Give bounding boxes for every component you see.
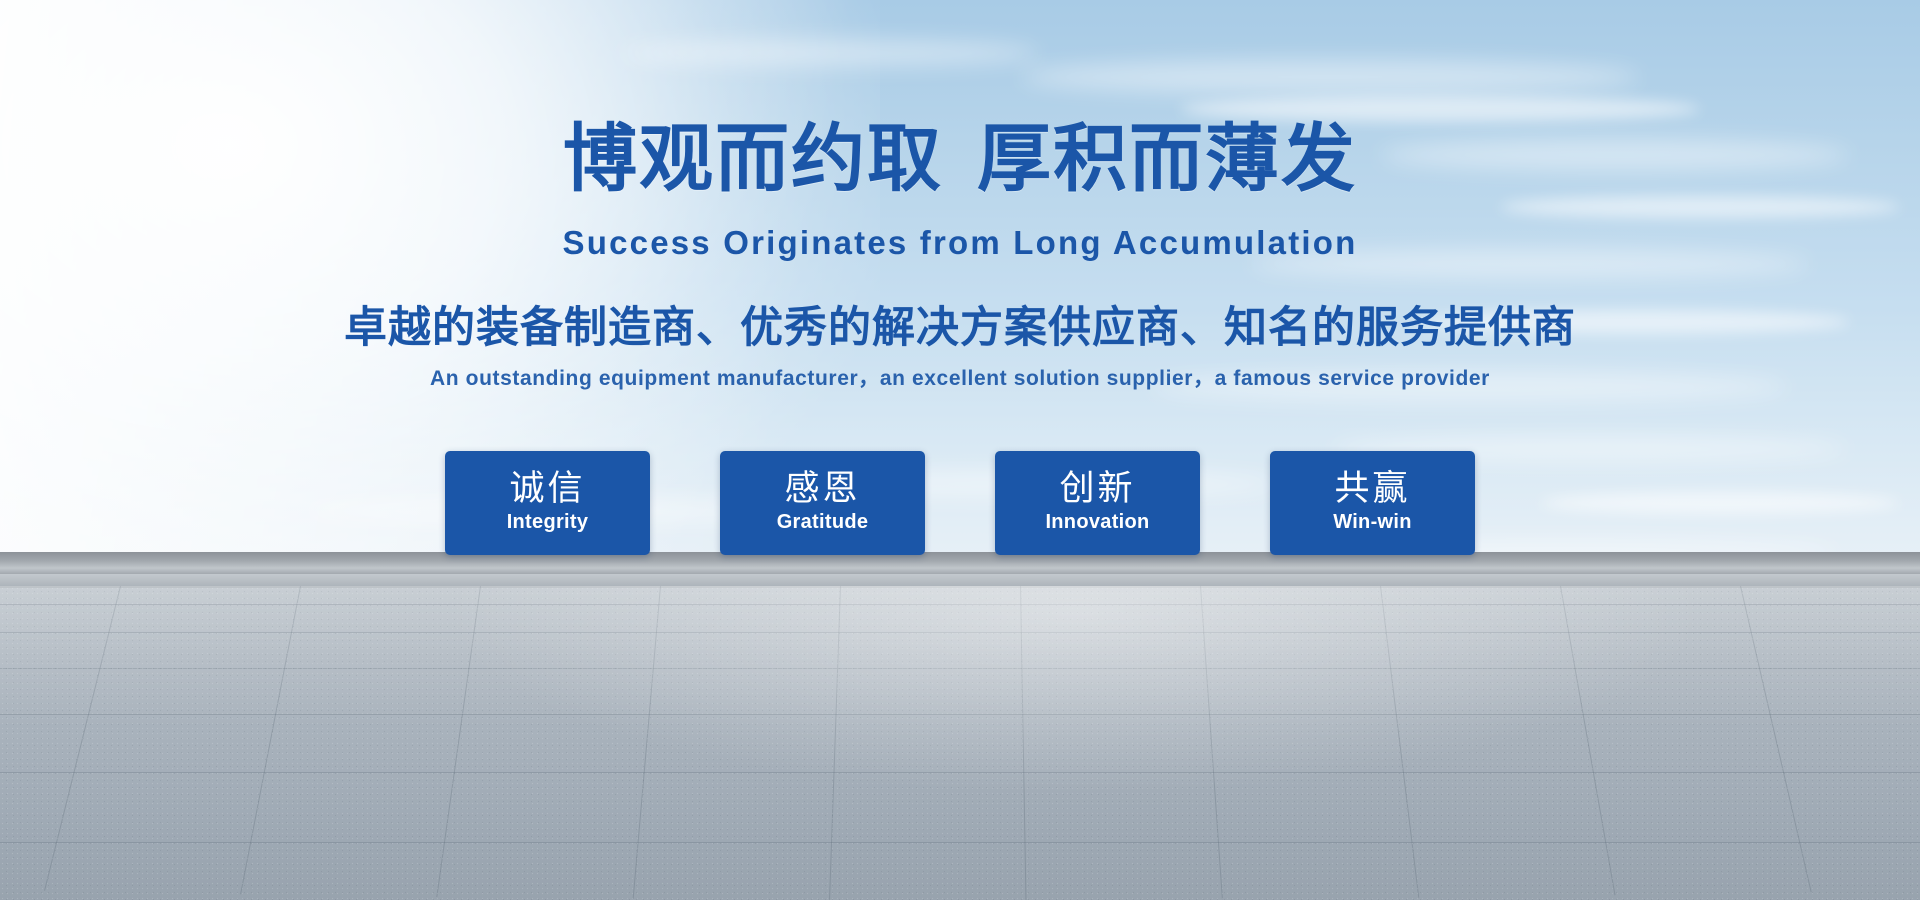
headline-chinese: 博观而约取厚积而薄发 (0, 122, 1920, 196)
value-card-label-en: Integrity (507, 510, 589, 535)
subline-chinese: 卓越的装备制造商、优秀的解决方案供应商、知名的服务提供商 (0, 307, 1920, 350)
headline-english: Success Originates from Long Accumulatio… (0, 226, 1920, 259)
value-card-innovation[interactable]: 创新 Innovation (995, 451, 1200, 555)
value-card-label-zh: 感恩 (784, 471, 860, 507)
value-card-label-en: Innovation (1045, 510, 1149, 535)
value-cards: 诚信 Integrity 感恩 Gratitude 创新 Innovation … (0, 451, 1920, 555)
value-card-label-en: Gratitude (777, 510, 869, 535)
headline-chinese-part1: 博观而约取 (563, 116, 943, 202)
headline-chinese-part2: 厚积而薄发 (977, 116, 1357, 202)
hero-banner: 博观而约取厚积而薄发 Success Originates from Long … (0, 0, 1920, 900)
subline-english: An outstanding equipment manufacturer，an… (0, 368, 1920, 389)
value-card-winwin[interactable]: 共赢 Win-win (1270, 451, 1475, 555)
value-card-label-zh: 共赢 (1334, 471, 1410, 507)
banner-content: 博观而约取厚积而薄发 Success Originates from Long … (0, 0, 1920, 900)
value-card-label-en: Win-win (1333, 510, 1412, 535)
value-card-integrity[interactable]: 诚信 Integrity (445, 451, 650, 555)
value-card-gratitude[interactable]: 感恩 Gratitude (720, 451, 925, 555)
value-card-label-zh: 创新 (1059, 471, 1135, 507)
value-card-label-zh: 诚信 (509, 471, 585, 507)
